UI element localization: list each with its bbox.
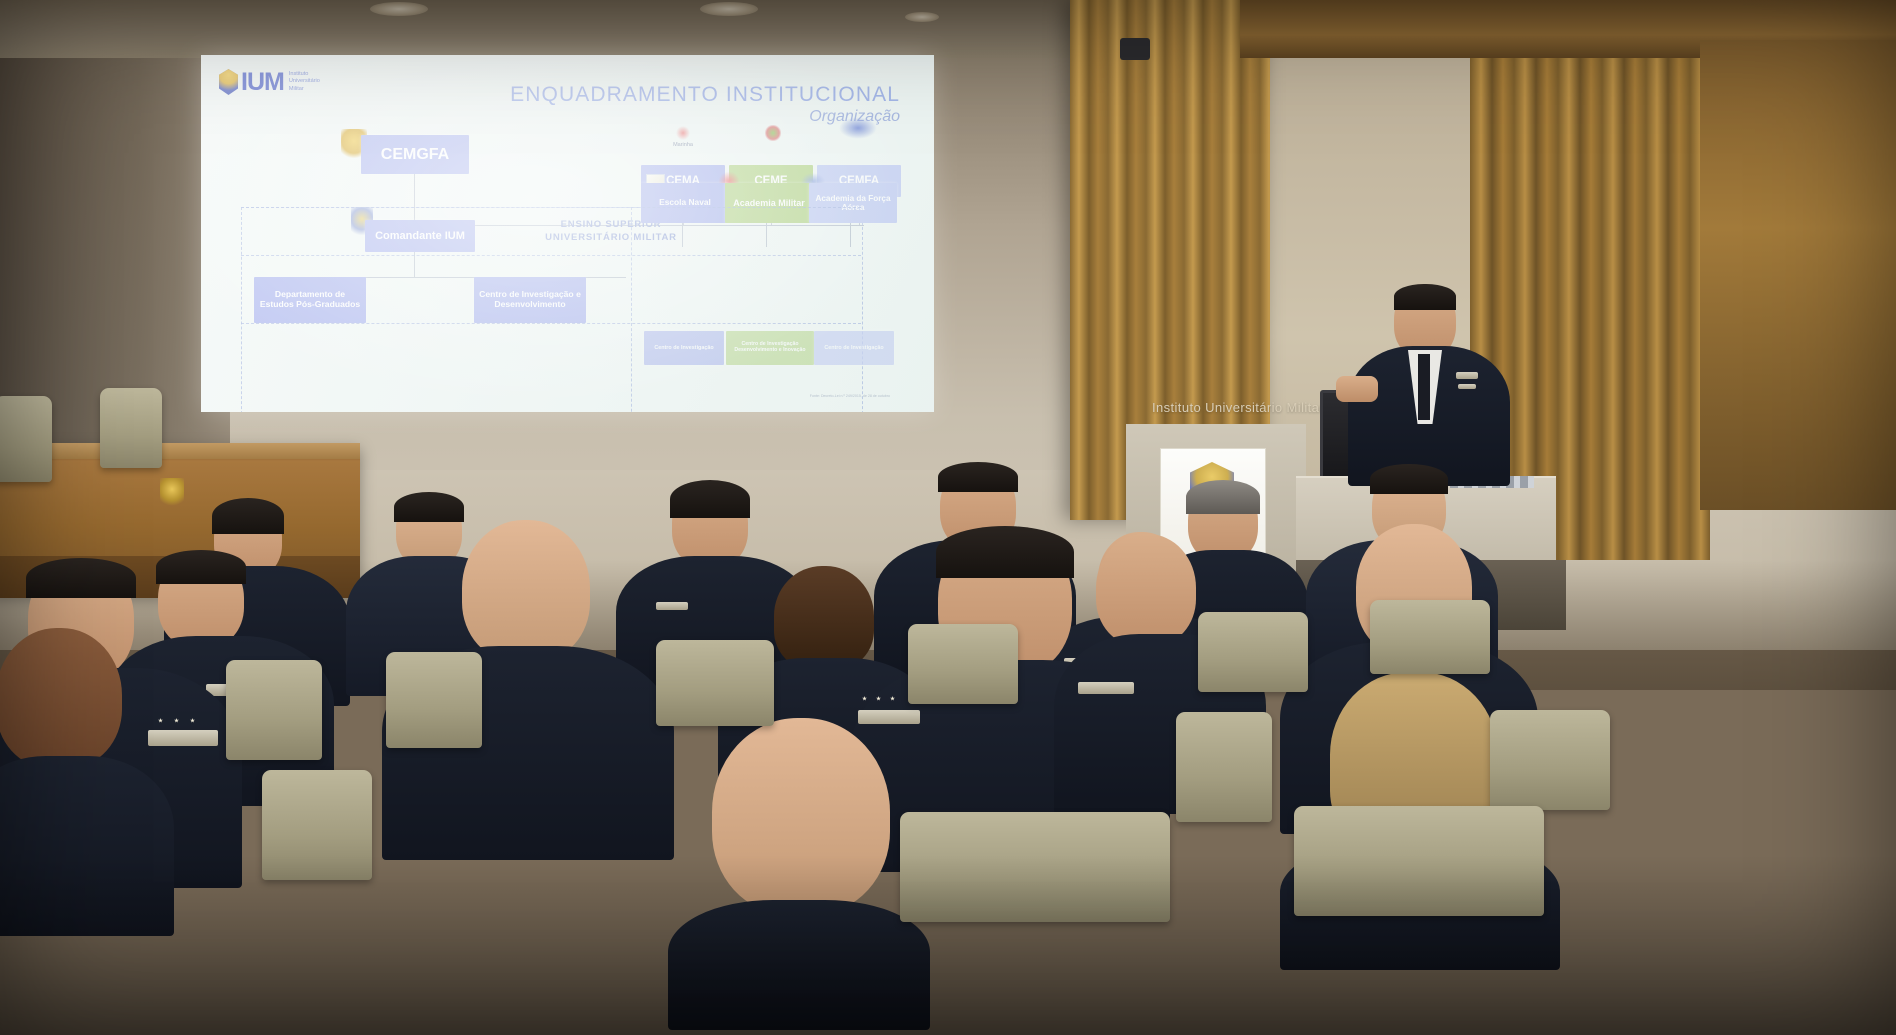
projection-screen: IUM Instituto Universitário Militar ENQU… xyxy=(201,55,934,412)
node-academia-militar: Academia Militar xyxy=(725,183,813,223)
chair xyxy=(900,812,1170,922)
slide-logo: IUM Instituto Universitário Militar xyxy=(219,69,320,95)
audience-member-front xyxy=(684,718,914,978)
chair xyxy=(1490,710,1610,810)
chair xyxy=(656,640,774,726)
speaker-hand xyxy=(1336,376,1378,402)
chair xyxy=(1198,612,1308,692)
speaker-rank-insignia xyxy=(1456,372,1478,379)
auditorium-scene: IUM Instituto Universitário Militar ENQU… xyxy=(0,0,1896,1035)
chair xyxy=(100,388,162,468)
ceiling-light xyxy=(370,2,428,16)
wood-wall-panel xyxy=(1700,40,1896,510)
node-cemgfa: CEMGFA xyxy=(361,135,469,174)
chair xyxy=(1370,600,1490,674)
head-table-top xyxy=(0,443,360,459)
chair xyxy=(1294,806,1544,916)
venue-wall-text: Instituto Universitário Militar xyxy=(1138,400,1338,416)
connector xyxy=(850,223,851,247)
ceiling-light xyxy=(700,2,758,16)
node-escola-naval: Escola Naval xyxy=(641,183,729,223)
speaker-ribbon xyxy=(1458,384,1476,389)
node-departamento-estudos: Departamento de Estudos Pós-Graduados xyxy=(254,277,366,323)
chair xyxy=(386,652,482,748)
ceiling-light xyxy=(905,12,939,22)
speaker-tie xyxy=(1418,354,1430,420)
slide-title: ENQUADRAMENTO INSTITUCIONAL xyxy=(510,83,900,107)
node-centro-investigacao: Centro de Investigação e Desenvolvimento xyxy=(474,277,586,323)
speaker-hair xyxy=(1394,284,1456,310)
chair xyxy=(1176,712,1272,822)
slide-footnote: Fonte: Decreto-Lei n.º 249/2015, de 28 d… xyxy=(660,394,890,398)
exercito-crest-icon xyxy=(765,125,781,141)
chair xyxy=(262,770,372,880)
connector xyxy=(682,223,683,247)
logo-acronym: IUM xyxy=(241,70,284,95)
branch-exercito xyxy=(743,125,803,142)
node-academia-militar-child: Centro de Investigação Desenvolvimento e… xyxy=(726,331,814,365)
branch-forca-aerea xyxy=(823,117,893,140)
connector xyxy=(766,223,767,247)
node-academia-forca-aerea-child: Centro de Investigação xyxy=(814,331,894,365)
node-comandante-ium: Comandante IUM xyxy=(365,220,475,252)
ium-crest-icon xyxy=(219,69,238,95)
audience-member-front xyxy=(0,628,180,888)
node-escola-naval-child: Centro de Investigação xyxy=(644,331,724,365)
branch-marinha: Marinha xyxy=(653,125,713,148)
chair xyxy=(226,660,322,760)
marinha-crest-icon xyxy=(675,125,691,141)
forca-aerea-crest-icon xyxy=(839,117,877,139)
chair xyxy=(908,624,1018,704)
wall-speaker-icon xyxy=(1120,38,1150,60)
chair xyxy=(0,396,52,482)
node-academia-forca-aerea: Academia da Força Aérea xyxy=(809,183,897,223)
logo-subtitle: Instituto Universitário Militar xyxy=(289,71,320,94)
